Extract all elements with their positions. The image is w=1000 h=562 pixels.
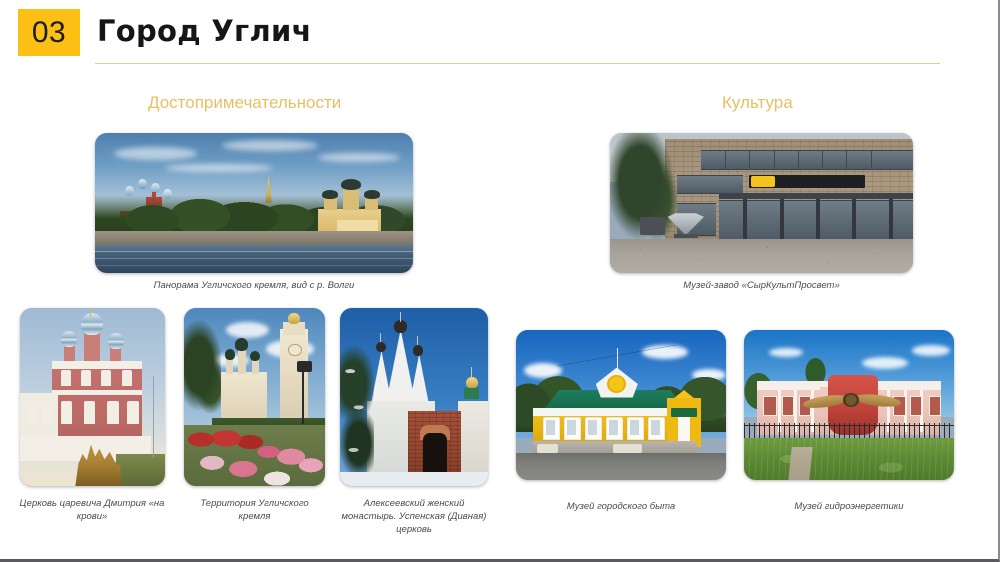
caption-museum-hydropower: Музей гидроэнергетики [744, 500, 954, 513]
caption-museum-factory: Музей-завод «СырКультПросвет» [610, 279, 913, 292]
page-title: Город Углич [97, 14, 312, 48]
slide-number-badge: 03 [18, 9, 80, 56]
section-heading-culture: Культура [722, 93, 793, 113]
figure-museum-town-life[interactable] [516, 330, 726, 480]
figure-alexeevsky-monastery[interactable] [340, 308, 488, 486]
figure-museum-factory[interactable]: МУЗЕЙ-ЗАВОД [610, 133, 913, 273]
caption-museum-town-life: Музей городского быта [516, 500, 726, 513]
slide: 03 Город Углич Достопримечательности Кул… [0, 0, 1000, 562]
figure-kremlin-panorama[interactable] [95, 133, 413, 273]
caption-kremlin-territory: Территория Угличского кремля [184, 497, 325, 523]
figure-museum-hydropower[interactable] [744, 330, 954, 480]
figure-church-dmitry[interactable] [20, 308, 165, 486]
section-heading-landmarks: Достопримечательности [148, 93, 341, 113]
caption-kremlin-panorama: Панорама Угличского кремля, вид с р. Вол… [95, 279, 413, 292]
slide-header: 03 Город Углич [0, 0, 1000, 72]
figure-kremlin-territory[interactable] [184, 308, 325, 486]
slide-number: 03 [32, 16, 66, 50]
caption-church-dmitry: Церковь царевича Дмитрия «на крови» [6, 497, 178, 523]
caption-alexeevsky-monastery: Алексеевский женский монастырь. Успенска… [335, 497, 493, 536]
title-divider [95, 63, 940, 64]
